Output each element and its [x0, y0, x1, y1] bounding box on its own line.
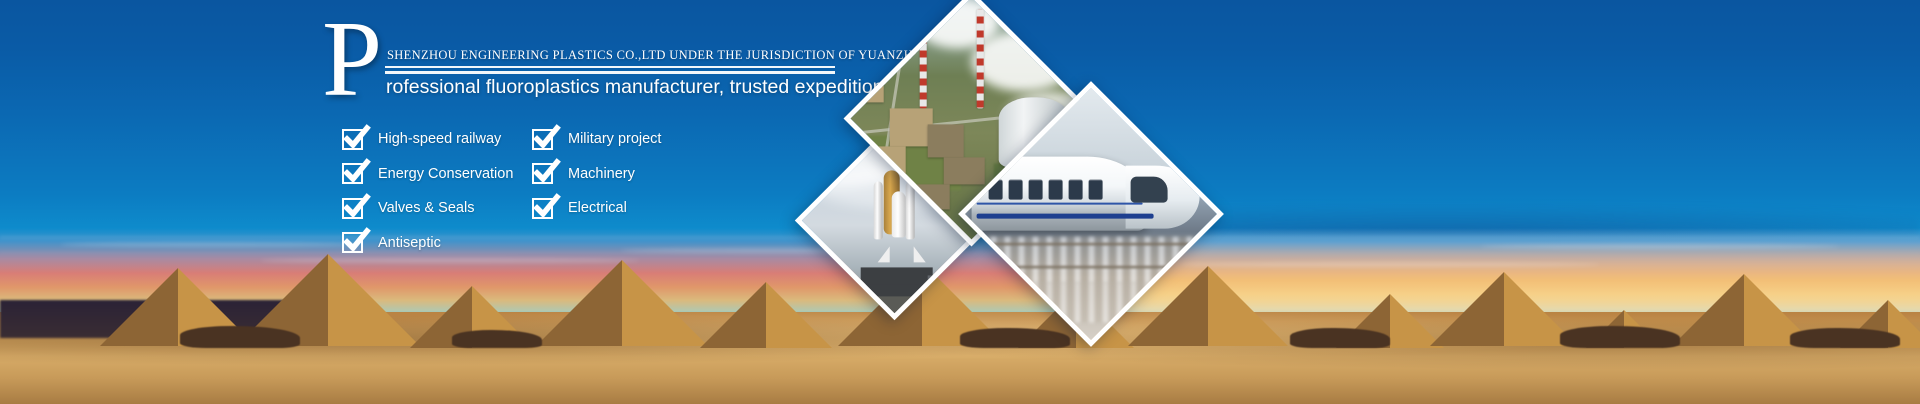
- checklist-item[interactable]: Energy Conservation: [342, 157, 513, 192]
- rock: [1560, 326, 1680, 348]
- logo-letter-p: P: [322, 6, 382, 114]
- checklist-item-label: Antiseptic: [378, 235, 441, 251]
- divider-rule-thick: [385, 71, 835, 74]
- check-icon: [531, 123, 561, 153]
- checklist-item[interactable]: Electrical: [532, 191, 661, 226]
- promo-banner: P SHENZHOU ENGINEERING PLASTICS CO.,LTD …: [0, 0, 1920, 404]
- checkbox[interactable]: [342, 198, 363, 219]
- checklist-item[interactable]: High-speed railway: [342, 122, 513, 157]
- rock: [1290, 328, 1390, 348]
- check-icon: [531, 157, 561, 187]
- check-icon: [341, 192, 371, 222]
- rock: [1790, 328, 1900, 348]
- checklist-item-label: Military project: [568, 131, 661, 147]
- checklist-item-label: Machinery: [568, 166, 635, 182]
- checklist-column-right: Military project Machinery Electrical: [532, 122, 661, 226]
- checklist-column-left: High-speed railway Energy Conservation V…: [342, 122, 513, 260]
- checklist-item-label: High-speed railway: [378, 131, 501, 147]
- cloud-streak: [1480, 244, 1840, 249]
- checkbox[interactable]: [532, 129, 553, 150]
- rock: [452, 330, 542, 348]
- checklist-item-label: Electrical: [568, 200, 627, 216]
- checklist-item[interactable]: Machinery: [532, 157, 661, 192]
- check-icon: [341, 226, 371, 256]
- rock: [180, 326, 300, 348]
- checkbox[interactable]: [342, 232, 363, 253]
- cloud-streak: [60, 242, 360, 247]
- divider-rule-thin: [385, 66, 835, 68]
- checklist-item[interactable]: Valves & Seals: [342, 191, 513, 226]
- checklist-item-label: Energy Conservation: [378, 166, 513, 182]
- check-icon: [531, 192, 561, 222]
- checkbox[interactable]: [532, 198, 553, 219]
- checklist-item-label: Valves & Seals: [378, 200, 474, 216]
- checkbox[interactable]: [342, 129, 363, 150]
- checkbox[interactable]: [532, 163, 553, 184]
- checklist-item[interactable]: Military project: [532, 122, 661, 157]
- check-icon: [341, 157, 371, 187]
- check-icon: [341, 123, 371, 153]
- checklist-item[interactable]: Antiseptic: [342, 226, 513, 261]
- company-name-line: SHENZHOU ENGINEERING PLASTICS CO.,LTD UN…: [387, 48, 987, 63]
- checkbox[interactable]: [342, 163, 363, 184]
- rock: [960, 328, 1070, 348]
